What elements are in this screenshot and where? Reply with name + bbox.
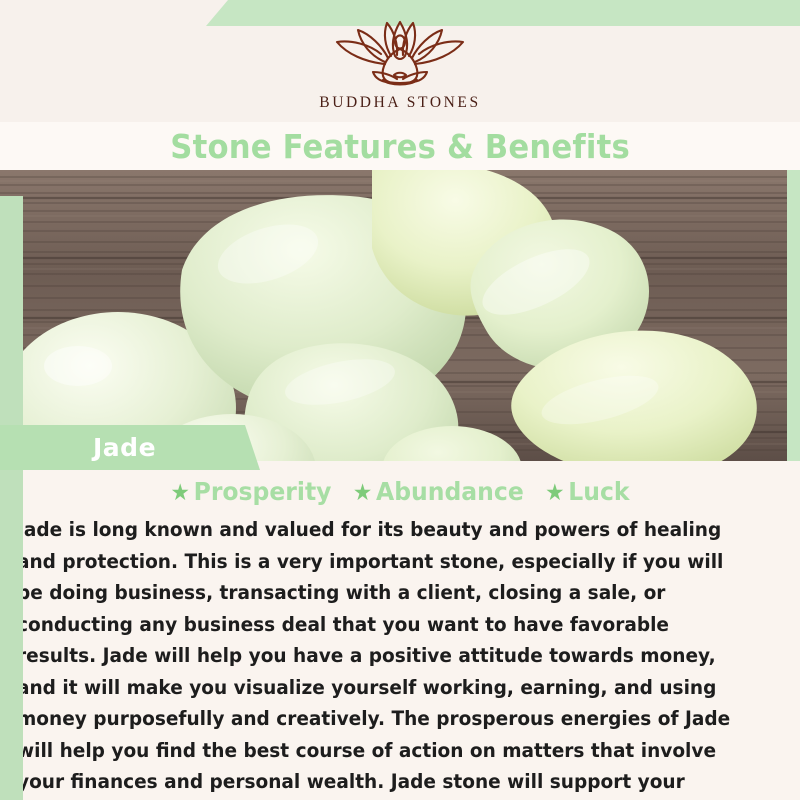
stone-name-label: Jade [93, 433, 156, 462]
page-title: Stone Features & Benefits [170, 127, 630, 166]
star-icon: ★ [353, 480, 372, 506]
benefit-label-2: Luck [568, 477, 629, 506]
benefit-label-0: Prosperity [194, 477, 332, 506]
benefit-item-1: ★Abundance [353, 477, 524, 506]
benefit-item-2: ★Luck [545, 477, 629, 506]
brand-logo: BUDDHA STONES [0, 18, 800, 112]
brand-name: BUDDHA STONES [319, 94, 480, 112]
benefits-list: ★Prosperity ★Abundance ★Luck [24, 477, 776, 506]
stone-photo-artwork [0, 170, 787, 461]
stone-name-banner: Jade [0, 425, 260, 470]
star-icon: ★ [545, 480, 564, 506]
star-icon: ★ [170, 480, 189, 506]
poster-root: BUDDHA STONES Stone Features & Benefits [0, 0, 800, 800]
benefit-item-0: ★Prosperity [170, 477, 331, 506]
lotus-meditation-icon [325, 18, 475, 90]
headline-strip: Stone Features & Benefits [0, 122, 800, 170]
content-panel: ★Prosperity ★Abundance ★Luck Jade is lon… [0, 461, 800, 800]
decor-green-left-strip [0, 196, 23, 800]
stone-description: Jade is long known and valued for its be… [17, 514, 751, 800]
stone-photo [0, 170, 787, 461]
benefit-label-1: Abundance [376, 477, 524, 506]
